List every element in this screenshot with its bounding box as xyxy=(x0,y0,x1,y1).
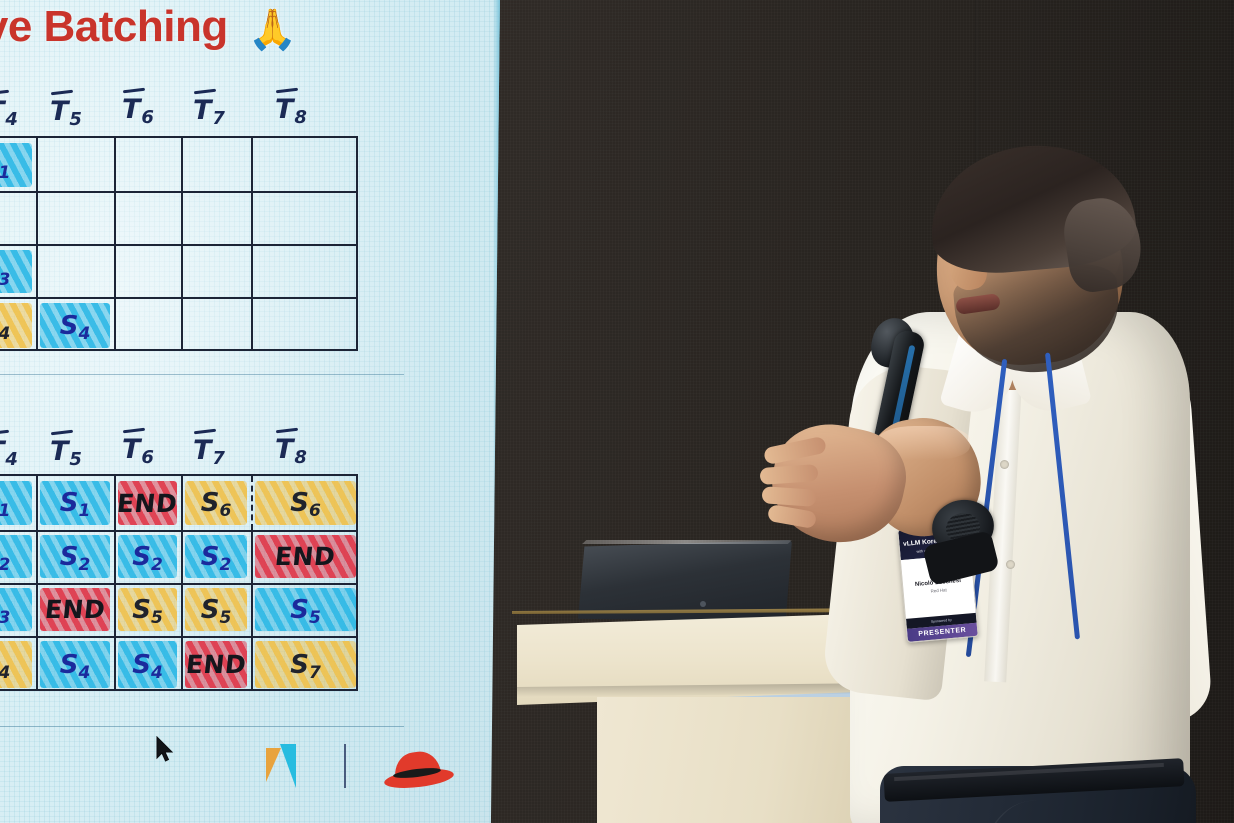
lower-header-t4: T4 xyxy=(0,436,17,467)
table-cell xyxy=(181,298,251,353)
cell-label: S3 xyxy=(0,257,10,287)
cell-label: S3 xyxy=(0,595,10,625)
upper-header-t7: T7 xyxy=(193,95,224,126)
shirt-button xyxy=(1000,460,1009,469)
table-cell xyxy=(181,192,251,245)
table-cell xyxy=(36,192,114,245)
cell-label: S7 xyxy=(290,650,321,680)
badge-org: Red Hat xyxy=(930,587,946,593)
left-hand-finger xyxy=(761,486,816,507)
cell-label: S5 xyxy=(132,595,163,625)
table-cell: S5 xyxy=(114,583,181,636)
table-cell: S5 xyxy=(181,583,251,636)
laptop-logo xyxy=(700,601,706,607)
table-cell: S2 xyxy=(36,530,114,583)
table-cell: END xyxy=(181,636,251,693)
table-cell: S4 xyxy=(36,298,114,353)
table-cell: S4 xyxy=(0,298,36,353)
table-cell: S4 xyxy=(0,636,36,693)
cell-label: S1 xyxy=(0,488,10,518)
table-cell xyxy=(181,245,251,298)
table-cell: S1 xyxy=(36,476,114,530)
cell-label: S4 xyxy=(60,650,91,680)
table-cell: S1 xyxy=(0,476,36,530)
table-cell xyxy=(114,298,181,353)
slide-section-divider xyxy=(0,374,404,375)
lower-header-t6: T6 xyxy=(122,434,153,465)
upper-header-t6: T6 xyxy=(122,94,153,125)
slide-footer-divider xyxy=(0,726,404,727)
cell-label: S4 xyxy=(132,650,163,680)
table-cell: S5 xyxy=(251,583,360,636)
table-cell: END xyxy=(36,583,114,636)
table-cell: S7 xyxy=(251,636,360,693)
table-cell: S4 xyxy=(36,636,114,693)
table-cell: S2 xyxy=(0,530,36,583)
cell-label: END xyxy=(43,595,106,624)
table-cell: S4 xyxy=(114,636,181,693)
cell-label: S1 xyxy=(0,150,10,180)
cell-label: END xyxy=(116,489,179,518)
table-cell xyxy=(114,138,181,192)
table-cell xyxy=(0,192,36,245)
table-cell: S3 xyxy=(0,245,36,298)
cell-label: END xyxy=(184,650,247,679)
upper-header-t4: T4 xyxy=(0,96,17,127)
shirt-button xyxy=(1006,560,1015,569)
upper-batching-table: S1S3S4S4 xyxy=(0,136,358,351)
cell-label: S2 xyxy=(201,542,232,572)
lower-table-header: T4 T5 T6 T7 T8 xyxy=(0,436,414,476)
table-cell xyxy=(114,245,181,298)
table-cell xyxy=(251,138,360,192)
table-cell: S2 xyxy=(114,530,181,583)
cell-label: S2 xyxy=(0,542,10,572)
table-cell xyxy=(36,245,114,298)
cell-label: END xyxy=(274,542,337,571)
table-cell: S3 xyxy=(0,583,36,636)
cell-label: S5 xyxy=(290,595,321,625)
table-cell xyxy=(36,138,114,192)
vllm-logo-cyan-wedge xyxy=(280,744,296,788)
lower-header-t7: T7 xyxy=(193,435,224,466)
table-cell: S6 xyxy=(251,476,360,530)
upper-table-header: T4 T5 T6 T7 T8 xyxy=(0,96,414,136)
upper-header-t5: T5 xyxy=(50,96,81,127)
table-cell: END xyxy=(251,530,360,583)
table-cell xyxy=(251,192,360,245)
table-cell xyxy=(251,298,360,353)
cell-label: S4 xyxy=(0,311,10,341)
slide-title-text: ative Batching xyxy=(0,2,228,51)
table-cell: END xyxy=(114,476,181,530)
table-cell: S1 xyxy=(0,138,36,192)
cell-label: S2 xyxy=(60,542,91,572)
slide-title: ative Batching 🙏 xyxy=(0,2,364,52)
cell-label: S1 xyxy=(60,488,91,518)
red-hat-logo xyxy=(384,752,456,790)
table-cell: S2 xyxy=(181,530,251,583)
table-cell: S6 xyxy=(181,476,251,530)
cell-label: S5 xyxy=(201,595,232,625)
projection-screen: ative Batching 🙏 T4 T5 T6 T7 T8 S1S3S4S4… xyxy=(0,0,500,823)
upper-header-t8: T8 xyxy=(275,94,306,125)
table-cell xyxy=(251,245,360,298)
logo-separator xyxy=(344,744,346,788)
screenshot-root: ative Batching 🙏 T4 T5 T6 T7 T8 S1S3S4S4… xyxy=(0,0,1234,823)
cell-label: S2 xyxy=(132,542,163,572)
lower-batching-table: S1S1ENDS6S6S2S2S2S2ENDS3ENDS5S5S5S4S4S4E… xyxy=(0,474,358,691)
vllm-logo xyxy=(266,748,300,794)
vllm-logo-orange-wedge xyxy=(266,748,281,782)
cell-label: S6 xyxy=(201,488,232,518)
cell-label: S4 xyxy=(0,650,10,680)
cell-label: S4 xyxy=(60,311,91,341)
lower-header-t5: T5 xyxy=(50,436,81,467)
lower-header-t8: T8 xyxy=(275,434,306,465)
cell-label: S6 xyxy=(290,488,321,518)
presenter: Our First vLLM Korea Meetup with vLLM an… xyxy=(760,130,1234,823)
table-cell xyxy=(114,192,181,245)
table-cell xyxy=(181,138,251,192)
praying-hands-emoji: 🙏 xyxy=(247,6,296,53)
